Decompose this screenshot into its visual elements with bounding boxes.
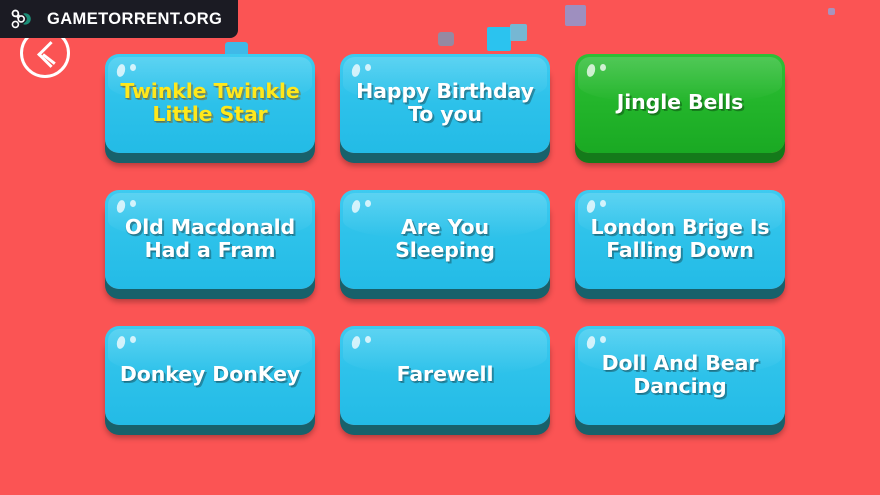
gloss-highlight-icon <box>352 64 378 80</box>
song-card-label: Donkey DonKey <box>120 363 300 386</box>
song-card-label: Farewell <box>397 363 494 386</box>
gamepad-clover-icon <box>10 8 36 30</box>
game-screen: GAMETORRENT.ORG Twinkle Twinkle Little S… <box>0 0 880 495</box>
gloss-highlight-icon <box>587 336 613 352</box>
song-card-happy-birthday-to-you[interactable]: Happy Birthday To you <box>340 54 550 153</box>
gloss-highlight-icon <box>587 200 613 216</box>
song-card-london-brige-is-falling-down[interactable]: London Brige Is Falling Down <box>575 190 785 289</box>
song-card-label: Jingle Bells <box>617 91 744 114</box>
song-card-label: London Brige Is Falling Down <box>590 216 769 262</box>
song-card-old-macdonald-had-a-fram[interactable]: Old Macdonald Had a Fram <box>105 190 315 289</box>
gloss-highlight-icon <box>117 336 143 352</box>
gloss-highlight-icon <box>352 200 378 216</box>
gloss-highlight-icon <box>587 64 613 80</box>
gloss-highlight-icon <box>117 200 143 216</box>
square-cyan-large-decoration <box>487 27 511 51</box>
song-card-label: Twinkle Twinkle Little Star <box>120 80 299 126</box>
song-card-label: Are You Sleeping <box>350 216 540 262</box>
song-card-label: Old Macdonald Had a Fram <box>125 216 295 262</box>
song-card-farewell[interactable]: Farewell <box>340 326 550 425</box>
square-violet-tiny-decoration <box>828 8 835 15</box>
square-violet-decoration <box>565 5 586 26</box>
gloss-highlight-icon <box>352 336 378 352</box>
song-card-doll-and-bear-dancing[interactable]: Doll And Bear Dancing <box>575 326 785 425</box>
song-card-grid: Twinkle Twinkle Little Star Happy Birthd… <box>105 54 785 425</box>
song-card-jingle-bells[interactable]: Jingle Bells <box>575 54 785 153</box>
gloss-highlight-icon <box>117 64 143 80</box>
watermark-bar: GAMETORRENT.ORG <box>0 0 238 38</box>
song-card-are-you-sleeping[interactable]: Are You Sleeping <box>340 190 550 289</box>
song-card-label: Doll And Bear Dancing <box>602 352 759 398</box>
song-card-label: Happy Birthday To you <box>356 80 534 126</box>
song-card-twinkle-twinkle-little-star[interactable]: Twinkle Twinkle Little Star <box>105 54 315 153</box>
song-card-donkey-donkey[interactable]: Donkey DonKey <box>105 326 315 425</box>
chevron-left-icon <box>37 41 64 68</box>
watermark-text: GAMETORRENT.ORG <box>47 10 222 29</box>
square-cyan-small-decoration <box>510 24 527 41</box>
square-faint-cyan-decoration <box>438 32 454 46</box>
